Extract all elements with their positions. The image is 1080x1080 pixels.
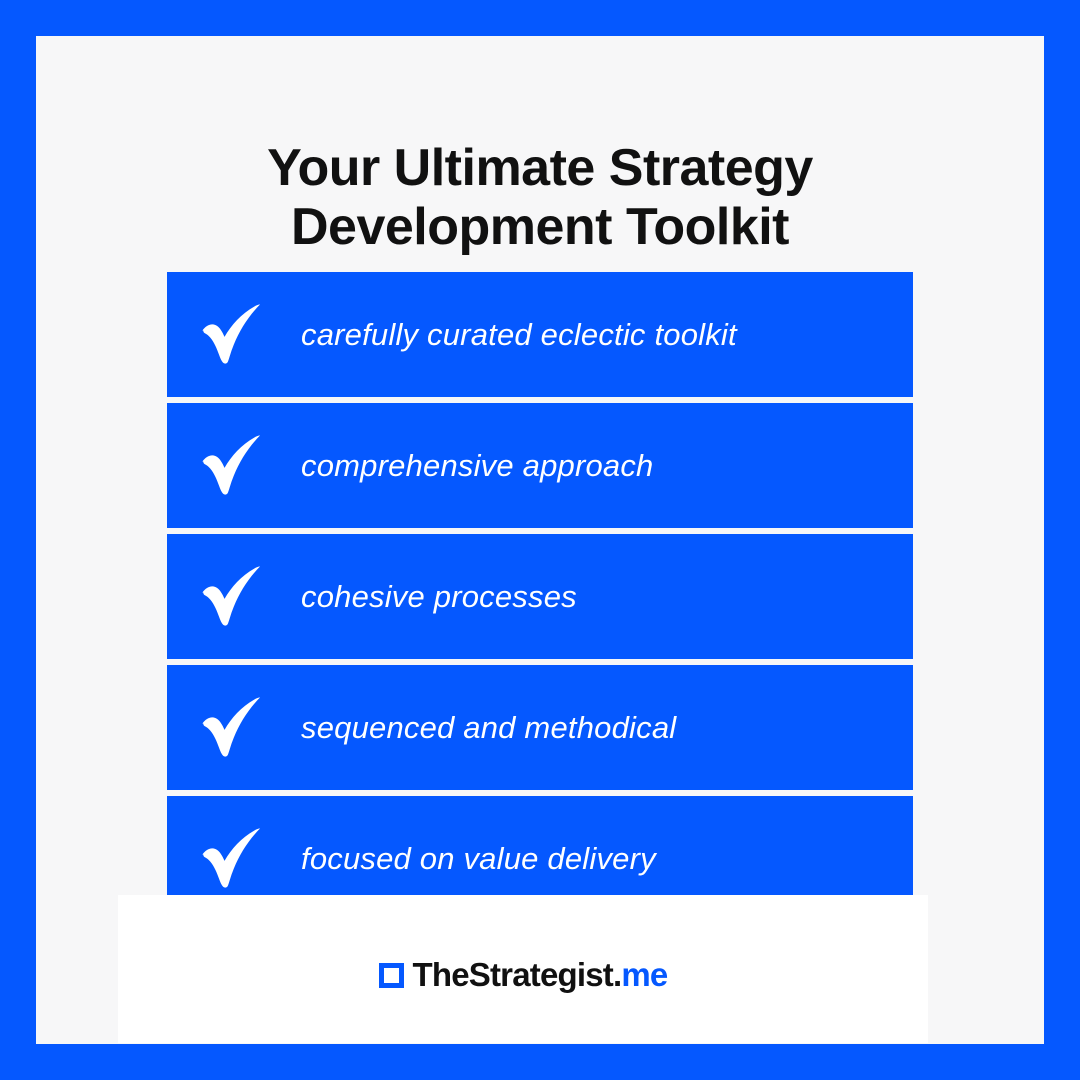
- list-item[interactable]: cohesive processes: [167, 534, 913, 659]
- logo-name: TheStrategist: [413, 956, 613, 993]
- list-item-label: carefully curated eclectic toolkit: [301, 317, 737, 353]
- list-item-label: comprehensive approach: [301, 448, 654, 484]
- check-icon: [183, 697, 279, 759]
- poster: Your Ultimate Strategy Development Toolk…: [0, 0, 1080, 1080]
- check-icon: [183, 828, 279, 890]
- list-item[interactable]: sequenced and methodical: [167, 665, 913, 790]
- logo-dot: .: [613, 956, 621, 993]
- check-icon: [183, 566, 279, 628]
- list-item[interactable]: carefully curated eclectic toolkit: [167, 272, 913, 397]
- list-item-label: sequenced and methodical: [301, 710, 676, 746]
- brand-logo[interactable]: TheStrategist.me: [118, 895, 928, 1043]
- list-item-label: cohesive processes: [301, 579, 577, 615]
- list-item[interactable]: comprehensive approach: [167, 403, 913, 528]
- logo-tld: me: [621, 956, 667, 993]
- checklist: carefully curated eclectic toolkit compr…: [167, 272, 913, 921]
- check-icon: [183, 435, 279, 497]
- page-title: Your Ultimate Strategy Development Toolk…: [36, 139, 1044, 257]
- list-item-label: focused on value delivery: [301, 841, 656, 877]
- check-icon: [183, 304, 279, 366]
- square-outline-icon: [379, 963, 404, 988]
